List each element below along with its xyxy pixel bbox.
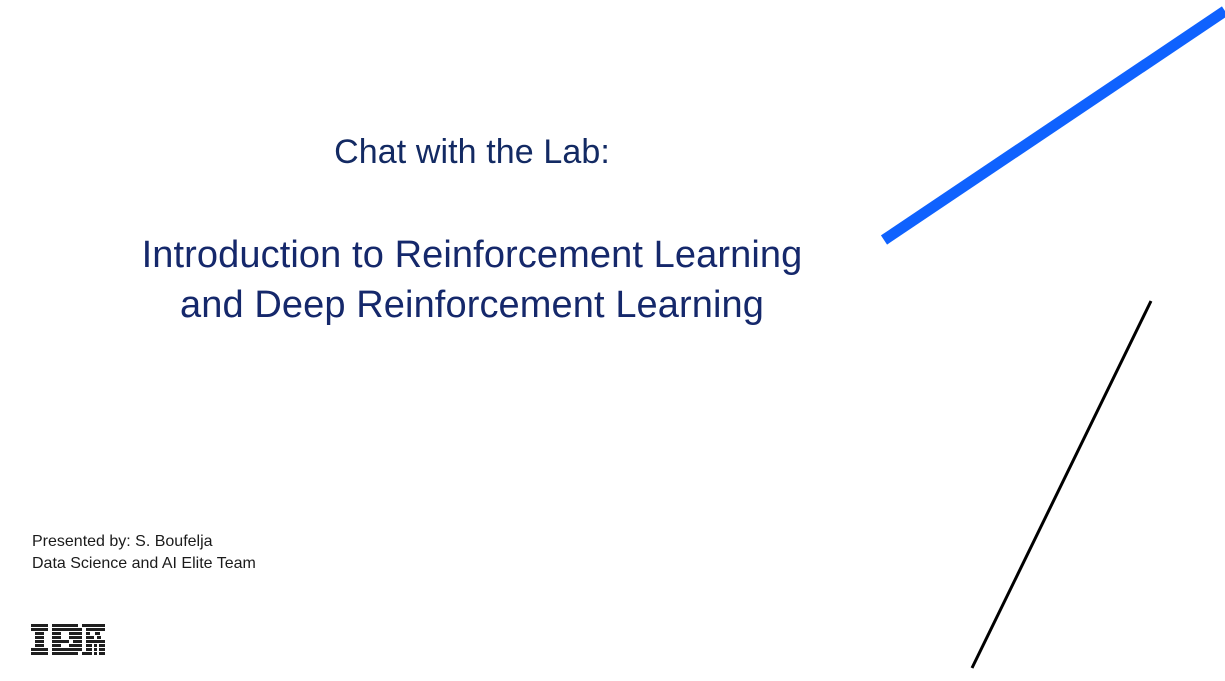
page-title-line-1: Introduction to Reinforcement Learning [0,230,944,280]
slide-eyebrow-title: Chat with the Lab: [0,130,944,174]
page-title: Introduction to Reinforcement Learning a… [0,230,944,330]
page-title-line-2: and Deep Reinforcement Learning [0,280,944,330]
black-diagonal-accent-line [972,301,1151,668]
presenter-team: Data Science and AI Elite Team [32,553,256,575]
title-block: Chat with the Lab: Introduction to Reinf… [0,130,944,330]
presenter-credit: Presented by: S. Boufelja Data Science a… [32,531,256,575]
ibm-logo [31,624,105,655]
decorative-lines [0,0,1225,681]
presenter-name: Presented by: S. Boufelja [32,531,256,553]
presentation-slide: Chat with the Lab: Introduction to Reinf… [0,0,1225,681]
